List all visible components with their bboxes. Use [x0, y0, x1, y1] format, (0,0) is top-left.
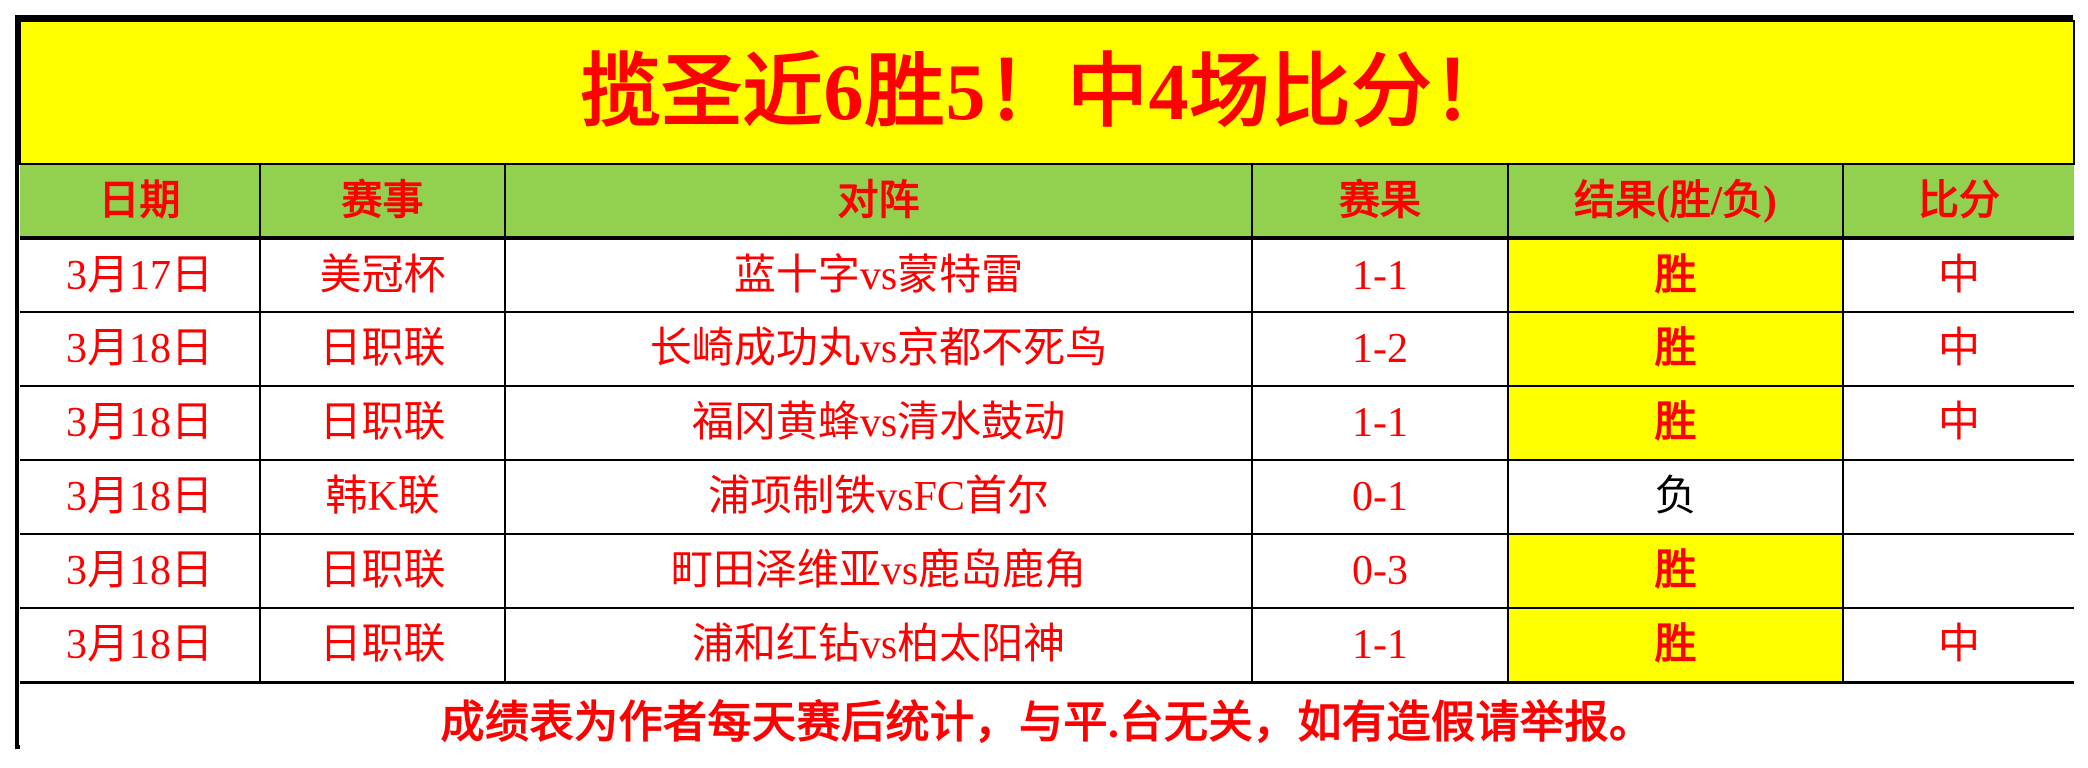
cell-spread: 中: [1843, 312, 2074, 386]
cell-match: 蓝十字vs蒙特雷: [505, 238, 1252, 312]
results-board: 揽圣近6胜5！中4场比分！ 日期 赛事 对阵 赛果 结果(胜/负): [15, 15, 2073, 749]
cell-result: 胜: [1508, 312, 1843, 386]
cell-date: 3月18日: [20, 460, 260, 534]
table-header-row: 日期 赛事 对阵 赛果 结果(胜/负) 比分: [20, 164, 2074, 238]
cell-score: 1-1: [1252, 386, 1508, 460]
cell-date: 3月18日: [20, 608, 260, 682]
cell-result: 胜: [1508, 238, 1843, 312]
table-row: 3月17日 美冠杯 蓝十字vs蒙特雷 1-1 胜 中: [20, 238, 2074, 312]
cell-league: 日职联: [260, 312, 505, 386]
cell-result: 负: [1508, 460, 1843, 534]
cell-league: 韩K联: [260, 460, 505, 534]
cell-date: 3月18日: [20, 534, 260, 608]
cell-league: 日职联: [260, 534, 505, 608]
cell-spread: 中: [1843, 386, 2074, 460]
column-header-date-label: 日期: [99, 177, 181, 223]
cell-date: 3月17日: [20, 238, 260, 312]
cell-result: 胜: [1508, 534, 1843, 608]
title-banner: 揽圣近6胜5！中4场比分！: [20, 21, 2074, 164]
cell-league: 日职联: [260, 608, 505, 682]
cell-match: 浦项制铁vsFC首尔: [505, 460, 1252, 534]
column-header-league: 赛事: [260, 164, 505, 238]
page-title: 揽圣近6胜5！中4场比分！: [581, 49, 1514, 137]
cell-result: 胜: [1508, 608, 1843, 682]
results-table: 揽圣近6胜5！中4场比分！ 日期 赛事 对阵 赛果 结果(胜/负): [19, 20, 2075, 753]
table-row: 3月18日 日职联 浦和红钻vs柏太阳神 1-1 胜 中: [20, 608, 2074, 682]
cell-result: 胜: [1508, 386, 1843, 460]
column-header-date: 日期: [20, 164, 260, 238]
cell-spread: [1843, 460, 2074, 534]
disclaimer-cell: 成绩表为作者每天赛后统计，与平.台无关，如有造假请举报。: [20, 682, 2074, 753]
cell-spread: [1843, 534, 2074, 608]
cell-date: 3月18日: [20, 386, 260, 460]
cell-score: 0-1: [1252, 460, 1508, 534]
cell-spread: 中: [1843, 238, 2074, 312]
table-row: 3月18日 日职联 长崎成功丸vs京都不死鸟 1-2 胜 中: [20, 312, 2074, 386]
column-header-score: 赛果: [1252, 164, 1508, 238]
cell-spread: 中: [1843, 608, 2074, 682]
cell-score: 1-1: [1252, 238, 1508, 312]
table-row: 3月18日 韩K联 浦项制铁vsFC首尔 0-1 负: [20, 460, 2074, 534]
cell-score: 1-1: [1252, 608, 1508, 682]
column-header-spread-label: 比分: [1918, 177, 2000, 223]
disclaimer-text: 成绩表为作者每天赛后统计，与平.台无关，如有造假请举报。: [441, 698, 1654, 747]
cell-league: 美冠杯: [260, 238, 505, 312]
cell-date: 3月18日: [20, 312, 260, 386]
title-row: 揽圣近6胜5！中4场比分！: [20, 21, 2074, 164]
cell-match: 浦和红钻vs柏太阳神: [505, 608, 1252, 682]
cell-score: 1-2: [1252, 312, 1508, 386]
cell-match: 町田泽维亚vs鹿岛鹿角: [505, 534, 1252, 608]
column-header-spread: 比分: [1843, 164, 2074, 238]
table-footer-row: 成绩表为作者每天赛后统计，与平.台无关，如有造假请举报。: [20, 682, 2074, 753]
column-header-score-label: 赛果: [1339, 177, 1421, 223]
cell-league: 日职联: [260, 386, 505, 460]
column-header-match-label: 对阵: [838, 177, 920, 223]
cell-match: 长崎成功丸vs京都不死鸟: [505, 312, 1252, 386]
cell-match: 福冈黄蜂vs清水鼓动: [505, 386, 1252, 460]
column-header-match: 对阵: [505, 164, 1252, 238]
column-header-result: 结果(胜/负): [1508, 164, 1843, 238]
column-header-result-label: 结果(胜/负): [1574, 177, 1777, 223]
table-row: 3月18日 日职联 町田泽维亚vs鹿岛鹿角 0-3 胜: [20, 534, 2074, 608]
table-body: 揽圣近6胜5！中4场比分！ 日期 赛事 对阵 赛果 结果(胜/负): [20, 21, 2074, 753]
table-row: 3月18日 日职联 福冈黄蜂vs清水鼓动 1-1 胜 中: [20, 386, 2074, 460]
cell-score: 0-3: [1252, 534, 1508, 608]
column-header-league-label: 赛事: [342, 177, 424, 223]
